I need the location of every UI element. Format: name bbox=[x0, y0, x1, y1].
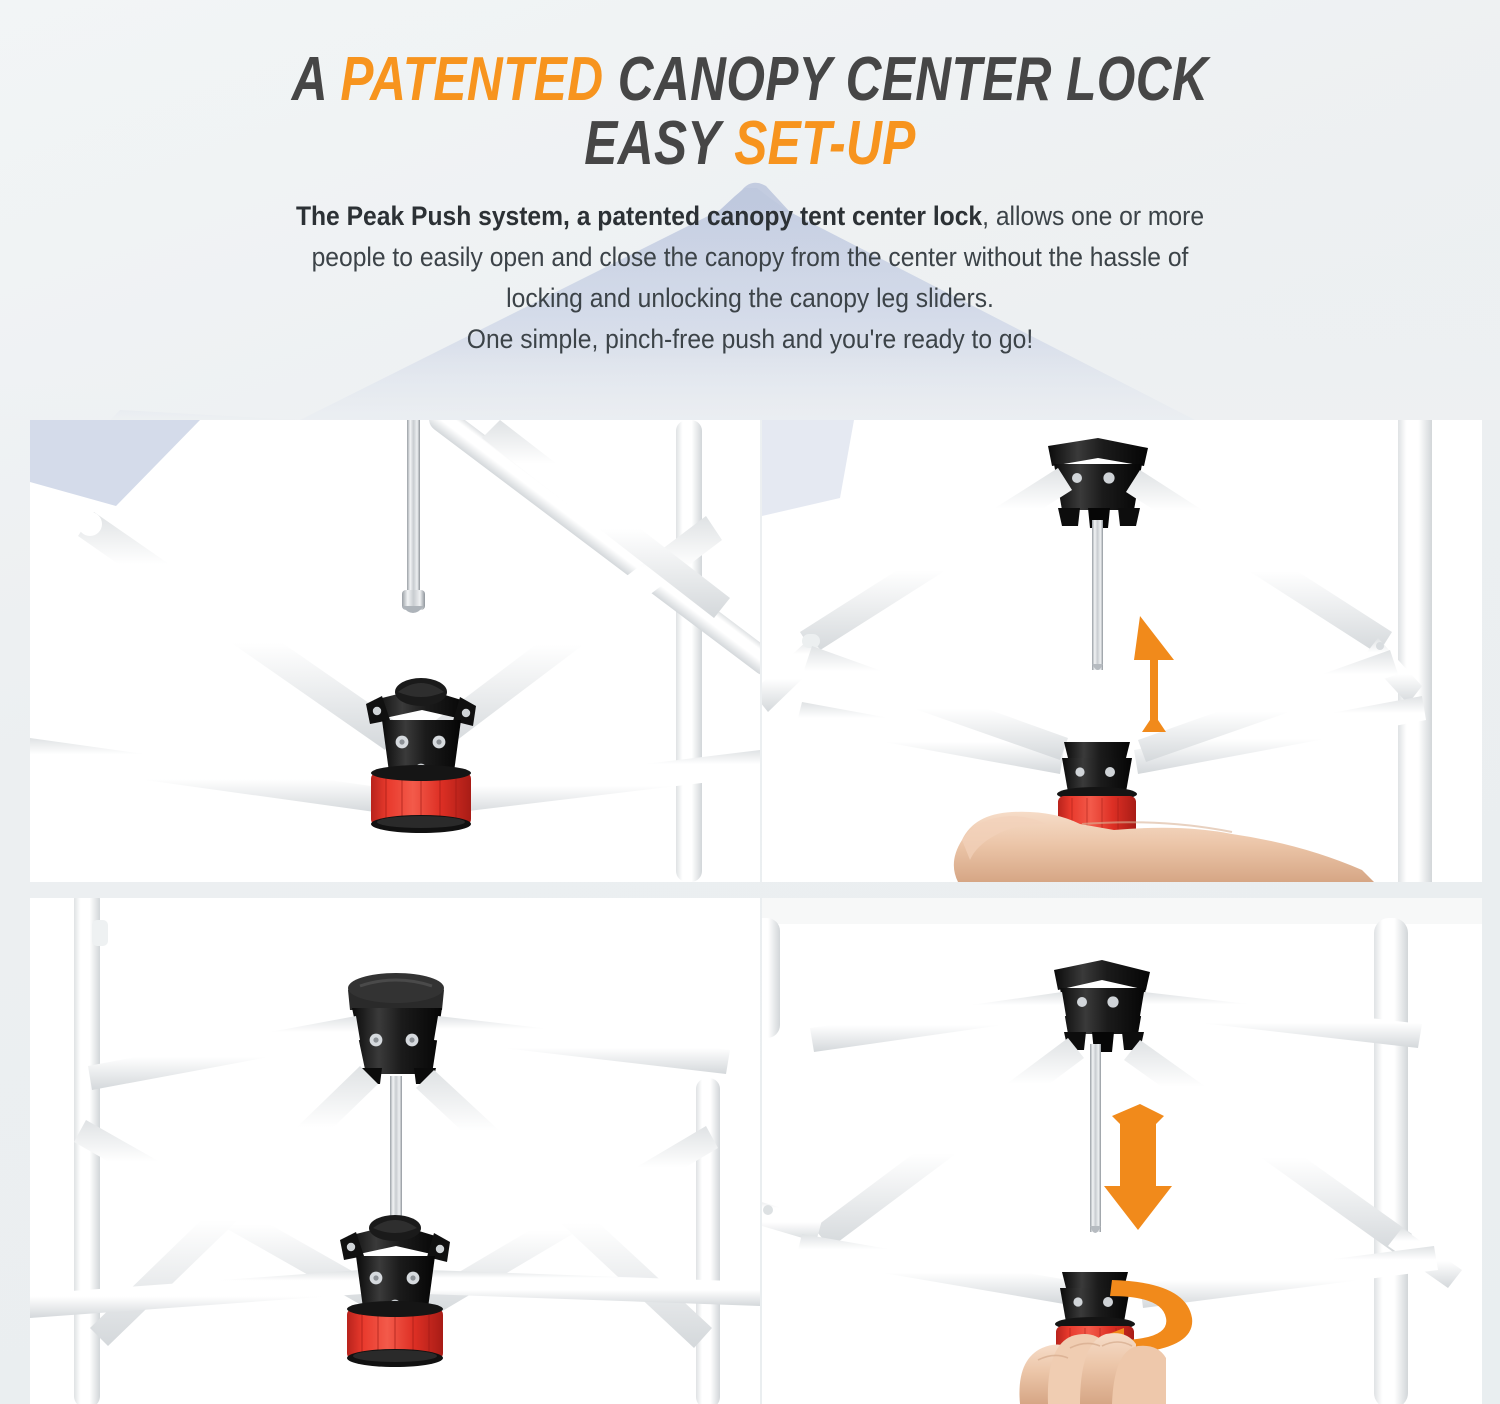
headline-part-easy: EASY bbox=[584, 109, 734, 178]
description-line-1: The Peak Push system, a patented canopy … bbox=[136, 196, 1364, 237]
description-line-3: locking and unlocking the canopy leg sli… bbox=[136, 278, 1364, 319]
center-pin-rod bbox=[1092, 520, 1103, 670]
canopy-frame-illustration-twist-release bbox=[762, 898, 1482, 1404]
photo-panel-grid bbox=[0, 420, 1500, 1404]
description-bold-lead: The Peak Push system, a patented canopy … bbox=[296, 201, 982, 231]
panel-frame-rod-extended-locked bbox=[30, 898, 760, 1404]
panel-frame-rod-retracted bbox=[30, 420, 760, 882]
frame-leg-right bbox=[696, 1078, 720, 1404]
headline-part-patented: PATENTED bbox=[340, 45, 617, 114]
headline-part-setup: SET-UP bbox=[734, 109, 916, 178]
description-block: The Peak Push system, a patented canopy … bbox=[90, 196, 1410, 360]
center-pin-rod-extended bbox=[390, 1076, 402, 1238]
panel-hand-push-up bbox=[762, 420, 1482, 882]
peak-hub bbox=[1054, 960, 1150, 1052]
frame-leg-left bbox=[762, 918, 780, 1038]
header-section: A PATENTED CANOPY CENTER LOCK EASY SET-U… bbox=[0, 0, 1500, 420]
headline-line-2: EASY SET-UP bbox=[150, 112, 1350, 176]
center-pin-rod bbox=[1090, 1044, 1101, 1233]
headline-block: A PATENTED CANOPY CENTER LOCK EASY SET-U… bbox=[0, 48, 1500, 176]
description-line-2: people to easily open and close the cano… bbox=[136, 237, 1364, 278]
frame-leg-right bbox=[1398, 420, 1432, 882]
description-line-4: One simple, pinch-free push and you're r… bbox=[136, 319, 1364, 360]
headline-part-a: A bbox=[292, 45, 341, 114]
canopy-frame-illustration-locked bbox=[30, 898, 760, 1404]
headline-part-canopy-center-lock: CANOPY CENTER LOCK bbox=[618, 45, 1209, 114]
headline-line-1: A PATENTED CANOPY CENTER LOCK bbox=[150, 48, 1350, 112]
frame-leg-right bbox=[1374, 918, 1408, 1404]
panel-hands-twist-release bbox=[762, 898, 1482, 1404]
frame-leg-right bbox=[676, 420, 702, 882]
description-line-1-rest: , allows one or more bbox=[982, 201, 1204, 231]
canopy-frame-illustration-retracted bbox=[30, 420, 760, 882]
canopy-frame-illustration-push-up bbox=[762, 420, 1482, 882]
